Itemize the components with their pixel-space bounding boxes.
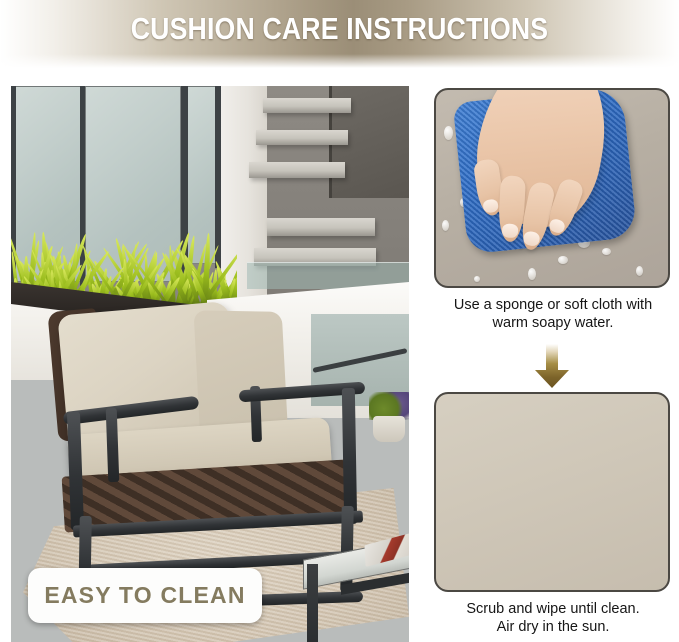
- step-wipe-caption-line1: Use a sponge or soft cloth with: [427, 296, 679, 314]
- step-dry-photo: [434, 392, 670, 592]
- floating-stair-step: [256, 130, 348, 145]
- step-wipe-caption: Use a sponge or soft cloth with warm soa…: [427, 296, 679, 332]
- water-droplet: [528, 268, 536, 280]
- chair-frame-post: [342, 388, 357, 524]
- down-arrow-icon: [532, 344, 572, 388]
- floating-stair-step: [249, 162, 345, 178]
- step-dry-caption-line2: Air dry in the sun.: [427, 618, 679, 636]
- water-droplet: [636, 266, 643, 276]
- easy-to-clean-label: EASY TO CLEAN: [44, 582, 245, 609]
- fingernail: [502, 223, 519, 238]
- water-droplet: [602, 248, 611, 255]
- floating-stair-step: [267, 218, 375, 236]
- step-dry-caption: Scrub and wipe until clean. Air dry in t…: [427, 600, 679, 636]
- water-droplet: [444, 126, 453, 140]
- water-droplet: [442, 220, 449, 231]
- fingernail: [482, 199, 499, 214]
- main-product-photo: [11, 86, 409, 642]
- easy-to-clean-badge: EASY TO CLEAN: [28, 568, 262, 623]
- water-droplet: [558, 256, 568, 264]
- step-wipe-photo: [434, 88, 670, 288]
- fingernail: [522, 230, 541, 247]
- step-wipe-caption-line2: warm soapy water.: [427, 314, 679, 332]
- page-title: CUSHION CARE INSTRUCTIONS: [48, 11, 632, 47]
- floating-stair-step: [263, 98, 351, 113]
- side-table-frame: [307, 564, 318, 642]
- water-droplet: [474, 276, 480, 282]
- plant-pot: [373, 416, 405, 442]
- step-dry-caption-line1: Scrub and wipe until clean.: [427, 600, 679, 618]
